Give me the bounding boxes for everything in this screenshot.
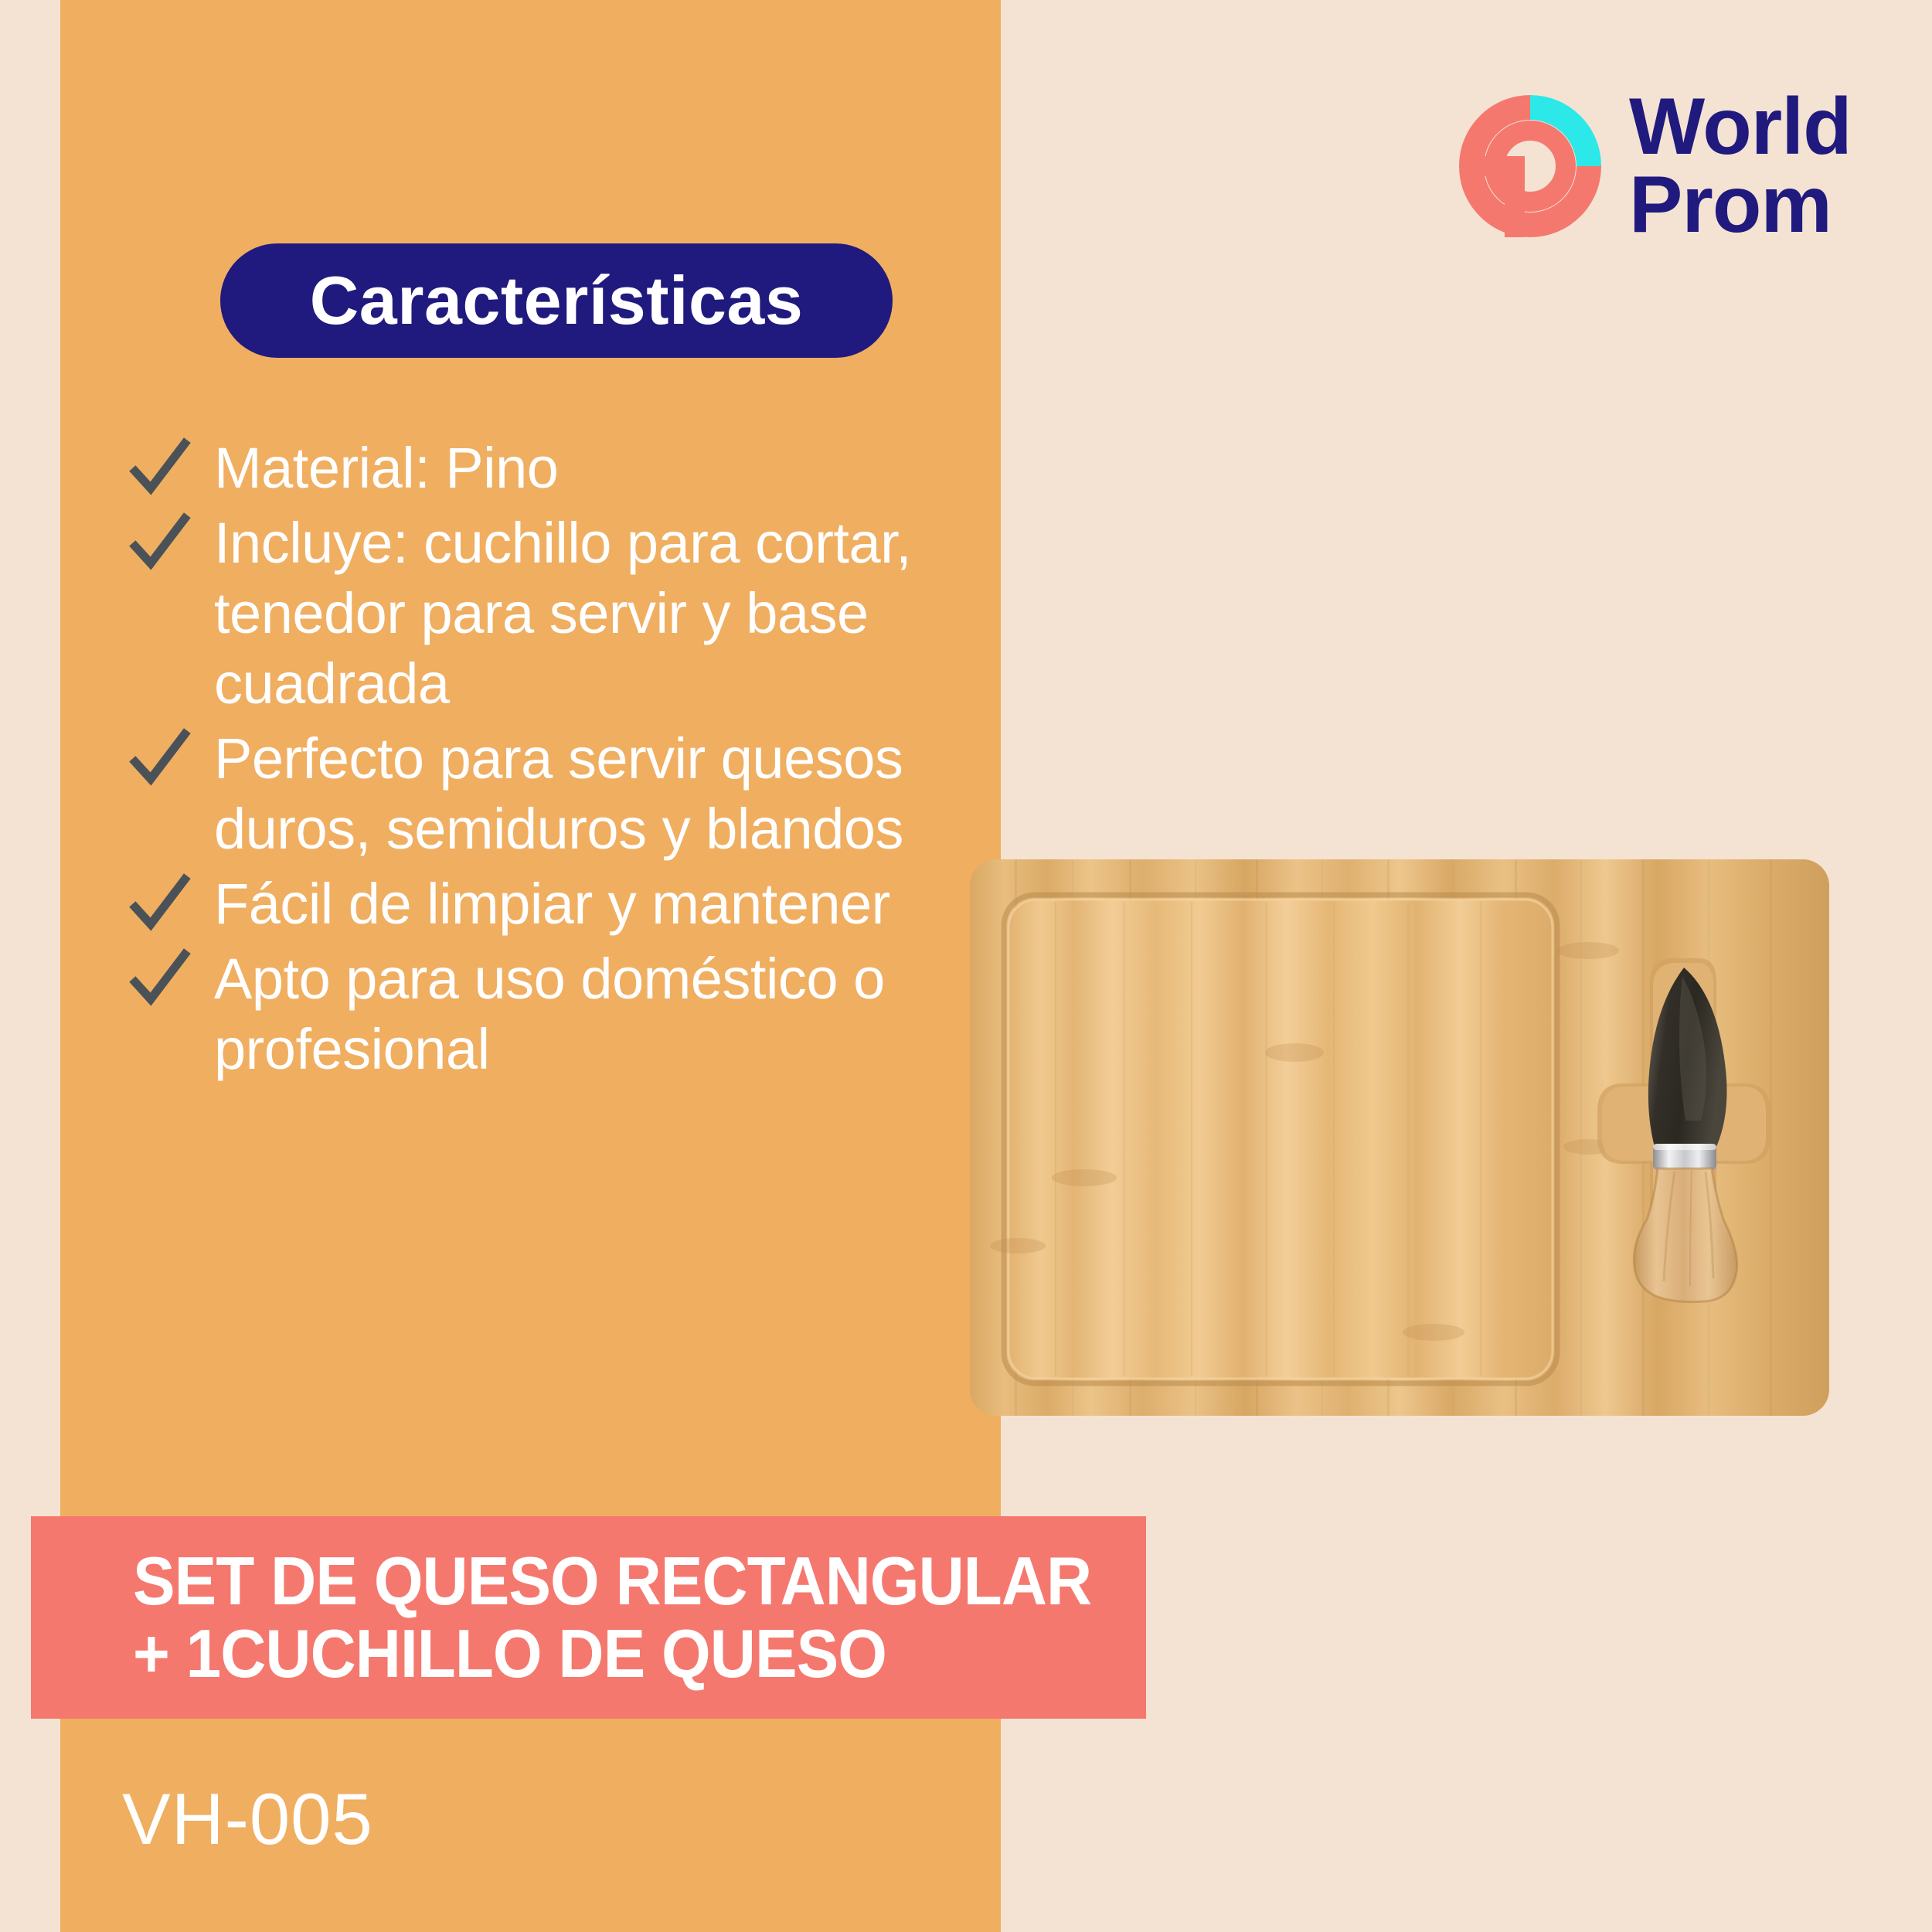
checkmark-icon [128, 437, 192, 502]
feature-text: Incluye: cuchillo para cortar, tenedor p… [214, 511, 911, 716]
product-poster: WorldProm Características Material: Pino… [0, 0, 1932, 1932]
feature-text: Perfecto para servir quesos duros, semid… [214, 726, 903, 861]
caracteristicas-badge: Características [220, 243, 893, 358]
feature-text: Fácil de limpiar y mantener [214, 872, 890, 936]
feature-text: Apto para uso doméstico o profesional [214, 947, 885, 1081]
feature-list: Material: Pino Incluye: cuchillo para co… [128, 433, 981, 1089]
brand-logo: WorldProm [1453, 77, 1901, 255]
product-title-line2: + 1CUCHILLO DE QUESO [133, 1617, 1075, 1690]
list-item: Incluye: cuchillo para cortar, tenedor p… [128, 508, 981, 719]
list-item: Material: Pino [128, 433, 981, 503]
worldprom-circular-logo-icon [1453, 89, 1607, 243]
product-title-banner: SET DE QUESO RECTANGULAR + 1CUCHILLO DE … [31, 1516, 1146, 1719]
list-item: Apto para uso doméstico o profesional [128, 944, 981, 1084]
feature-text: Material: Pino [214, 436, 558, 500]
list-item: Perfecto para servir quesos duros, semid… [128, 723, 981, 864]
checkmark-icon [128, 728, 192, 793]
checkmark-icon [128, 873, 192, 938]
brand-logo-text: WorldProm [1629, 88, 1852, 244]
list-item: Fácil de limpiar y mantener [128, 869, 981, 939]
checkmark-icon [128, 512, 192, 577]
bamboo-cheese-board-with-knife-photo [970, 859, 1829, 1416]
brand-name-line1: World [1629, 82, 1852, 172]
brand-name-line2: Prom [1629, 160, 1832, 250]
badge-label: Características [310, 261, 804, 340]
product-title-line1: SET DE QUESO RECTANGULAR [133, 1545, 1075, 1617]
checkmark-icon [128, 948, 192, 1013]
product-sku: VH-005 [122, 1777, 373, 1861]
